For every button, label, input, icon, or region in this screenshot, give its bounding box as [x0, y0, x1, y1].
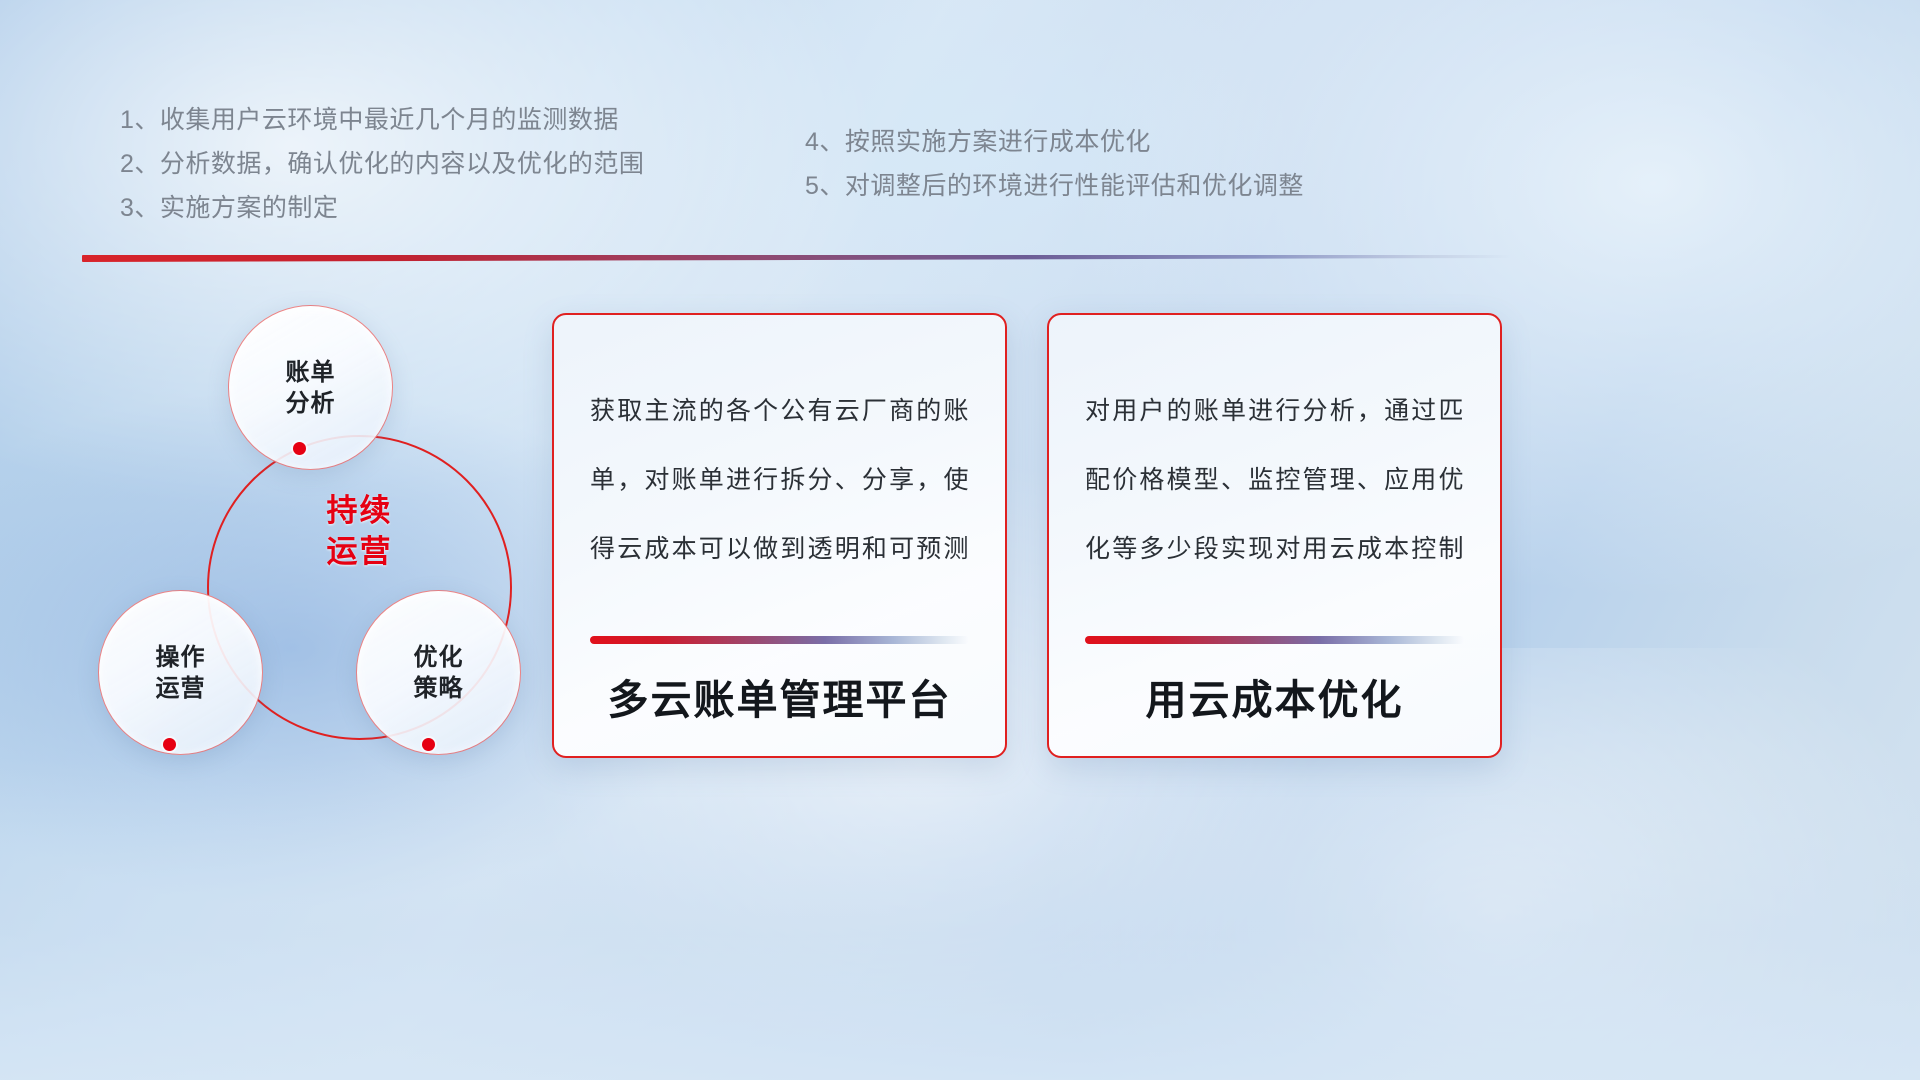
diagram-bubble-label: 账单 分析 [286, 357, 336, 419]
card-body-text: 对用户的账单进行分析，通过匹配价格模型、监控管理、应用优化等多少段实现对用云成本… [1085, 377, 1464, 584]
step-item-5: 5、对调整后的环境进行性能评估和优化调整 [805, 164, 1525, 208]
diagram-bubble-label: 优化 策略 [414, 642, 464, 704]
steps-right-column: 4、按照实施方案进行成本优化 5、对调整后的环境进行性能评估和优化调整 [805, 120, 1525, 208]
continuous-operation-diagram: 持续 运营 账单 分析 操作 运营 优化 策略 [85, 295, 555, 775]
diagram-bubble-label: 操作 运营 [156, 642, 206, 704]
diagram-bubble-optimization-strategy[interactable]: 优化 策略 [356, 590, 521, 755]
diagram-node-dot-top [293, 442, 306, 455]
diagram-center-label: 持续 运营 [207, 490, 512, 572]
card-body-text: 获取主流的各个公有云厂商的账单，对账单进行拆分、分享，使得云成本可以做到透明和可… [590, 377, 969, 584]
diagram-node-dot-left [163, 738, 176, 751]
diagram-bubble-operation[interactable]: 操作 运营 [98, 590, 263, 755]
diagram-node-dot-right [422, 738, 435, 751]
step-item-2: 2、分析数据，确认优化的内容以及优化的范围 [120, 142, 820, 186]
card-multi-cloud-billing-platform[interactable]: 获取主流的各个公有云厂商的账单，对账单进行拆分、分享，使得云成本可以做到透明和可… [552, 313, 1007, 758]
background-bottom-band [0, 756, 1920, 1080]
card-divider [590, 636, 969, 644]
card-title: 用云成本优化 [1085, 644, 1464, 756]
card-divider [1085, 636, 1464, 644]
step-item-3: 3、实施方案的制定 [120, 186, 820, 230]
step-item-4: 4、按照实施方案进行成本优化 [805, 120, 1525, 164]
card-cloud-cost-optimization[interactable]: 对用户的账单进行分析，通过匹配价格模型、监控管理、应用优化等多少段实现对用云成本… [1047, 313, 1502, 758]
diagram-bubble-bill-analysis[interactable]: 账单 分析 [228, 305, 393, 470]
card-title: 多云账单管理平台 [590, 644, 969, 756]
steps-left-column: 1、收集用户云环境中最近几个月的监测数据 2、分析数据，确认优化的内容以及优化的… [120, 98, 820, 230]
step-item-1: 1、收集用户云环境中最近几个月的监测数据 [120, 98, 820, 142]
